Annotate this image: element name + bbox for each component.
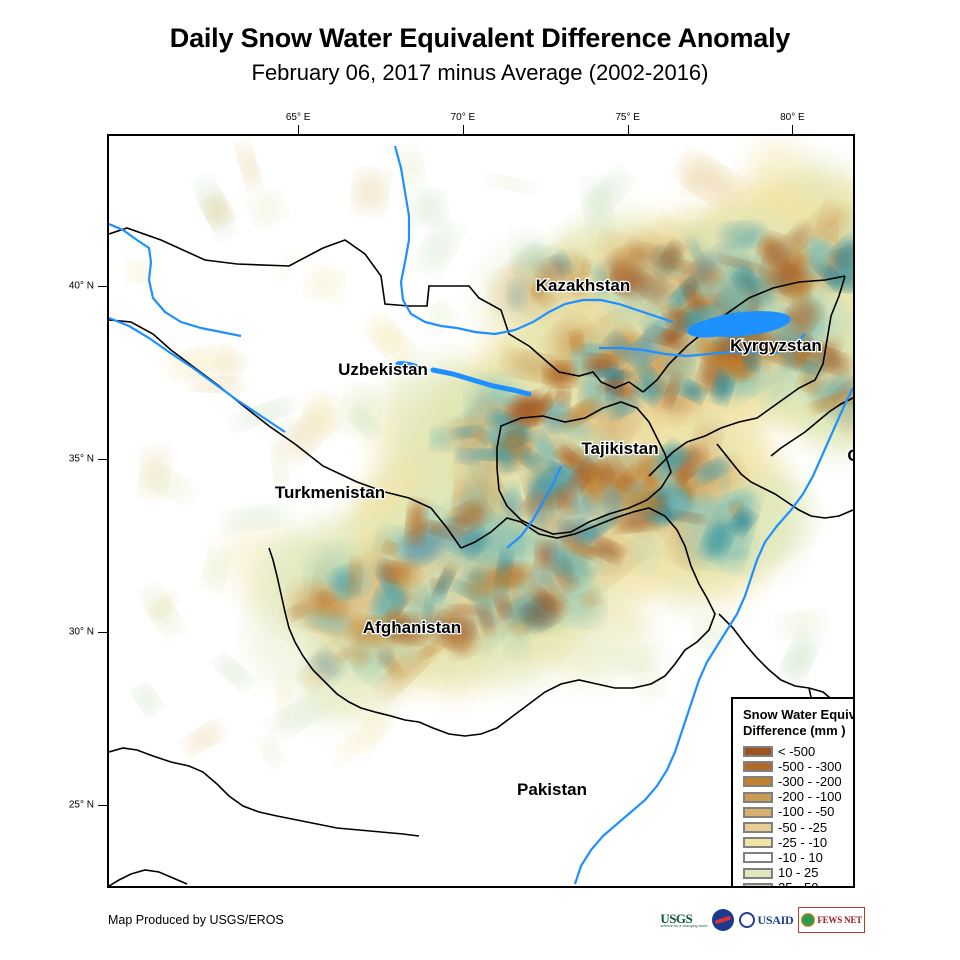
lat-tick-label: 35° N	[69, 454, 94, 465]
lon-tick	[792, 125, 793, 134]
country-label-afghanistan: Afghanistan	[363, 618, 461, 637]
nasa-logo[interactable]	[712, 909, 734, 931]
legend-swatch	[743, 761, 773, 772]
lat-tick	[98, 632, 107, 633]
legend-swatch	[743, 776, 773, 787]
legend-entry[interactable]: -100 - -50	[743, 805, 855, 820]
usgs-logo[interactable]: USGS science for a changing world	[660, 909, 707, 931]
country-label-china: China	[847, 446, 853, 465]
country-label-tajikistan: Tajikistan	[581, 439, 658, 458]
legend-label: -300 - -200	[778, 775, 842, 789]
legend-label: -100 - -50	[778, 805, 834, 819]
country-label-kazakhstan: Kazakhstan	[536, 276, 630, 295]
country-label-turkmenistan: Turkmenistan	[275, 483, 385, 502]
legend-label: 10 - 25	[778, 866, 818, 880]
map-legend[interactable]: Snow Water Equivalent Difference (mm ) <…	[731, 697, 855, 888]
footer-credit: Map Produced by USGS/EROS	[108, 913, 284, 927]
lon-tick-label: 75° E	[615, 112, 640, 123]
legend-label: -25 - -10	[778, 836, 827, 850]
legend-swatch	[743, 837, 773, 848]
legend-label: < -500	[778, 745, 815, 759]
lat-tick-label: 40° N	[69, 281, 94, 292]
lon-tick-label: 65° E	[286, 112, 311, 123]
legend-entry[interactable]: -25 - -10	[743, 835, 855, 850]
anomaly-cell	[793, 235, 807, 268]
legend-swatch	[743, 807, 773, 818]
legend-entry[interactable]: < -500	[743, 744, 855, 759]
lon-tick	[463, 125, 464, 134]
legend-swatch	[743, 883, 773, 888]
lon-tick	[298, 125, 299, 134]
legend-swatch	[743, 746, 773, 757]
legend-label: -200 - -100	[778, 790, 842, 804]
country-label-kyrgyzstan: Kyrgyzstan	[730, 336, 822, 355]
legend-label: -500 - -300	[778, 760, 842, 774]
title-block: Daily Snow Water Equivalent Difference A…	[0, 22, 960, 88]
lat-tick	[98, 459, 107, 460]
map-frame[interactable]: KazakhstanUzbekistanKyrgyzstanTajikistan…	[107, 134, 855, 888]
usaid-logo-word: USAID	[757, 913, 793, 928]
fews-globe-icon	[801, 913, 815, 927]
lon-tick-label: 70° E	[451, 112, 476, 123]
legend-entry[interactable]: -500 - -300	[743, 759, 855, 774]
legend-entry[interactable]: -200 - -100	[743, 790, 855, 805]
page-subtitle: February 06, 2017 minus Average (2002-20…	[0, 58, 960, 88]
legend-entry[interactable]: -50 - -25	[743, 820, 855, 835]
country-label-pakistan: Pakistan	[517, 780, 587, 799]
usgs-logo-word: USGS	[660, 912, 692, 925]
legend-title: Snow Water Equivalent Difference (mm )	[743, 707, 855, 739]
page-title: Daily Snow Water Equivalent Difference A…	[0, 22, 960, 54]
lat-tick	[98, 805, 107, 806]
lon-tick	[628, 125, 629, 134]
usaid-logo[interactable]: USAID	[739, 909, 793, 931]
usaid-seal-icon	[739, 912, 755, 928]
legend-entry[interactable]: 10 - 25	[743, 866, 855, 881]
legend-swatch	[743, 792, 773, 803]
lon-tick-label: 80° E	[780, 112, 805, 123]
lat-tick-label: 25° N	[69, 799, 94, 810]
legend-label: -50 - -25	[778, 821, 827, 835]
lat-tick-label: 30° N	[69, 627, 94, 638]
legend-label: -10 - 10	[778, 851, 823, 865]
legend-swatch	[743, 852, 773, 863]
fewsnet-logo[interactable]: FEWS NET	[798, 907, 865, 933]
legend-swatch	[743, 822, 773, 833]
legend-entry[interactable]: -300 - -200	[743, 774, 855, 789]
country-label-uzbekistan: Uzbekistan	[338, 360, 428, 379]
fewsnet-logo-word: FEWS NET	[817, 915, 862, 925]
legend-swatch	[743, 868, 773, 879]
legend-label: 25 - 50	[778, 881, 818, 888]
logo-strip: USGS science for a changing world USAID …	[660, 908, 865, 932]
legend-entry[interactable]: 25 - 50	[743, 881, 855, 888]
usgs-logo-tagline: science for a changing world	[660, 925, 707, 929]
legend-entry[interactable]: -10 - 10	[743, 850, 855, 865]
legend-entry-list: < -500-500 - -300-300 - -200-200 - -100-…	[743, 744, 855, 888]
lat-tick	[98, 286, 107, 287]
